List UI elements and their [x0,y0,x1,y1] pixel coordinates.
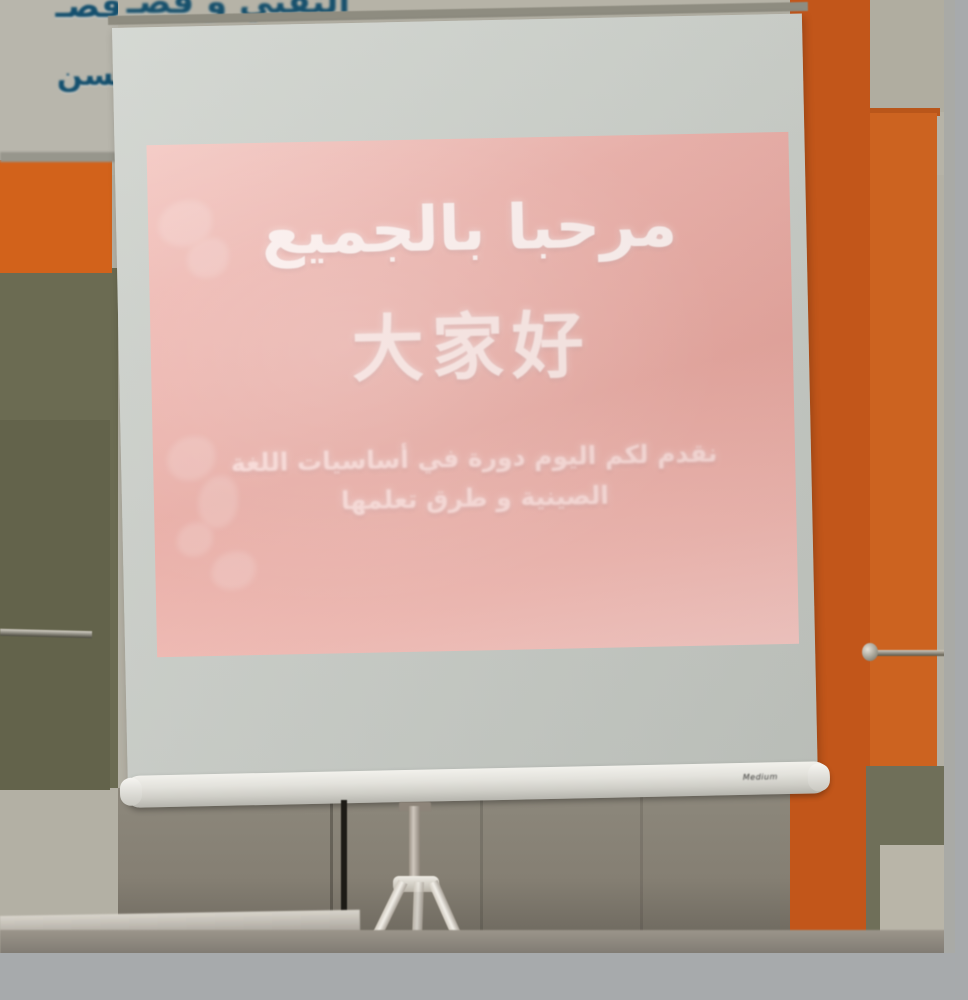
upper-right-wall [866,0,944,112]
orange-wall-right-panel [862,113,937,768]
banner-bottom-edge [0,152,120,162]
cabinet-seam [480,788,483,938]
screen-brand-label: Medium [743,772,778,782]
screen-bar-end-cap-right [808,763,831,791]
banner-line-2: حسن [0,58,118,93]
screen-fabric: مرحبا بالجميع 大家好 نقدم لكم اليوم دورة في… [112,14,818,788]
tripod-center-pole [409,806,420,884]
slide-subtitle-arabic: نقدم لكم اليوم دورة في أساسيات اللغة الص… [193,433,757,525]
metal-rail-right [866,650,948,656]
screen-bar-end-cap-left [120,778,143,806]
floral-watermark [151,184,310,627]
projection-screen: مرحبا بالجميع 大家好 نقدم لكم اليوم دورة في… [112,14,818,818]
wall-banner: وقصـ حسن [0,0,118,160]
cabinet-seam [640,788,643,938]
orange-wall-left [0,158,112,273]
floor [0,930,955,953]
right-edge-strip [944,0,955,953]
screenshot-root: وقصـ حسن التقني و قصـ [0,0,968,1000]
slide-title-chinese: 大家好 [150,282,794,400]
lower-left-wall-shadow [0,420,110,790]
slide-title-arabic: مرحبا بالجميع [148,188,791,270]
rail-knob [862,643,878,661]
photograph: وقصـ حسن التقني و قصـ [0,0,955,953]
projected-slide: مرحبا بالجميع 大家好 نقدم لكم اليوم دورة في… [146,132,799,657]
bottom-letterbox [0,953,968,1000]
right-letterbox [955,0,968,953]
